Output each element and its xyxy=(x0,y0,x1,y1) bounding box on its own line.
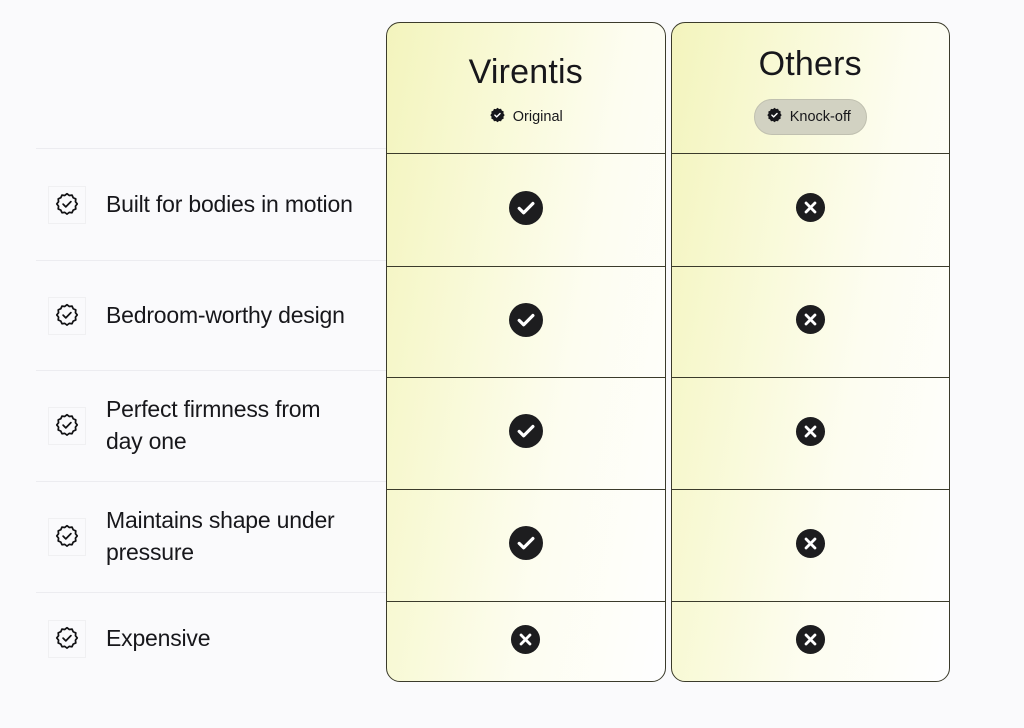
check-circle-icon xyxy=(508,190,544,231)
comparison-cell xyxy=(387,489,665,601)
column-header-others: Others Knock-off xyxy=(672,23,950,153)
comparison-cell xyxy=(672,266,950,377)
feature-column: Built for bodies in motion Bedroom-worth… xyxy=(36,18,386,698)
comparison-column-others: Others Knock-off xyxy=(671,22,951,682)
comparison-column-virentis: Virentis Original xyxy=(386,22,666,682)
badge-check-outline-icon xyxy=(48,407,86,445)
check-circle-icon xyxy=(508,302,544,343)
x-circle-icon xyxy=(795,192,826,228)
status-badge-label: Knock-off xyxy=(790,110,851,125)
badge-check-outline-icon xyxy=(48,186,86,224)
badge-check-outline-icon xyxy=(48,518,86,556)
comparison-columns: Virentis Original xyxy=(386,22,950,682)
comparison-cell xyxy=(672,601,950,681)
feature-label: Built for bodies in motion xyxy=(106,189,353,221)
feature-label: Expensive xyxy=(106,623,210,655)
feature-row: Bedroom-worthy design xyxy=(36,260,386,370)
comparison-cell xyxy=(387,153,665,266)
comparison-cell xyxy=(672,377,950,489)
x-circle-icon xyxy=(795,304,826,340)
feature-row: Expensive xyxy=(36,592,386,685)
comparison-cell xyxy=(387,377,665,489)
column-title: Others xyxy=(759,47,862,81)
comparison-cell xyxy=(672,153,950,266)
feature-label: Perfect firmness from day one xyxy=(106,394,356,457)
x-circle-icon xyxy=(510,624,541,660)
check-circle-icon xyxy=(508,525,544,566)
feature-label: Bedroom-worthy design xyxy=(106,300,345,332)
feature-label: Maintains shape under pressure xyxy=(106,505,356,568)
badge-check-outline-icon xyxy=(48,297,86,335)
feature-row: Maintains shape under pressure xyxy=(36,481,386,592)
comparison-cell xyxy=(672,489,950,601)
badge-check-filled-icon xyxy=(489,107,506,128)
x-circle-icon xyxy=(795,416,826,452)
comparison-table: Built for bodies in motion Bedroom-worth… xyxy=(0,0,1024,728)
comparison-cell xyxy=(387,266,665,377)
column-header-virentis: Virentis Original xyxy=(387,23,665,153)
status-badge-knockoff: Knock-off xyxy=(754,99,867,136)
x-circle-icon xyxy=(795,528,826,564)
feature-row: Built for bodies in motion xyxy=(36,148,386,260)
check-circle-icon xyxy=(508,413,544,454)
feature-row: Perfect firmness from day one xyxy=(36,370,386,481)
badge-check-outline-icon xyxy=(48,620,86,658)
column-title: Virentis xyxy=(469,55,583,89)
status-badge-original: Original xyxy=(489,107,563,128)
comparison-cell xyxy=(387,601,665,681)
status-badge-label: Original xyxy=(513,110,563,125)
badge-check-filled-icon xyxy=(766,107,783,128)
x-circle-icon xyxy=(795,624,826,660)
feature-column-spacer xyxy=(36,18,386,148)
